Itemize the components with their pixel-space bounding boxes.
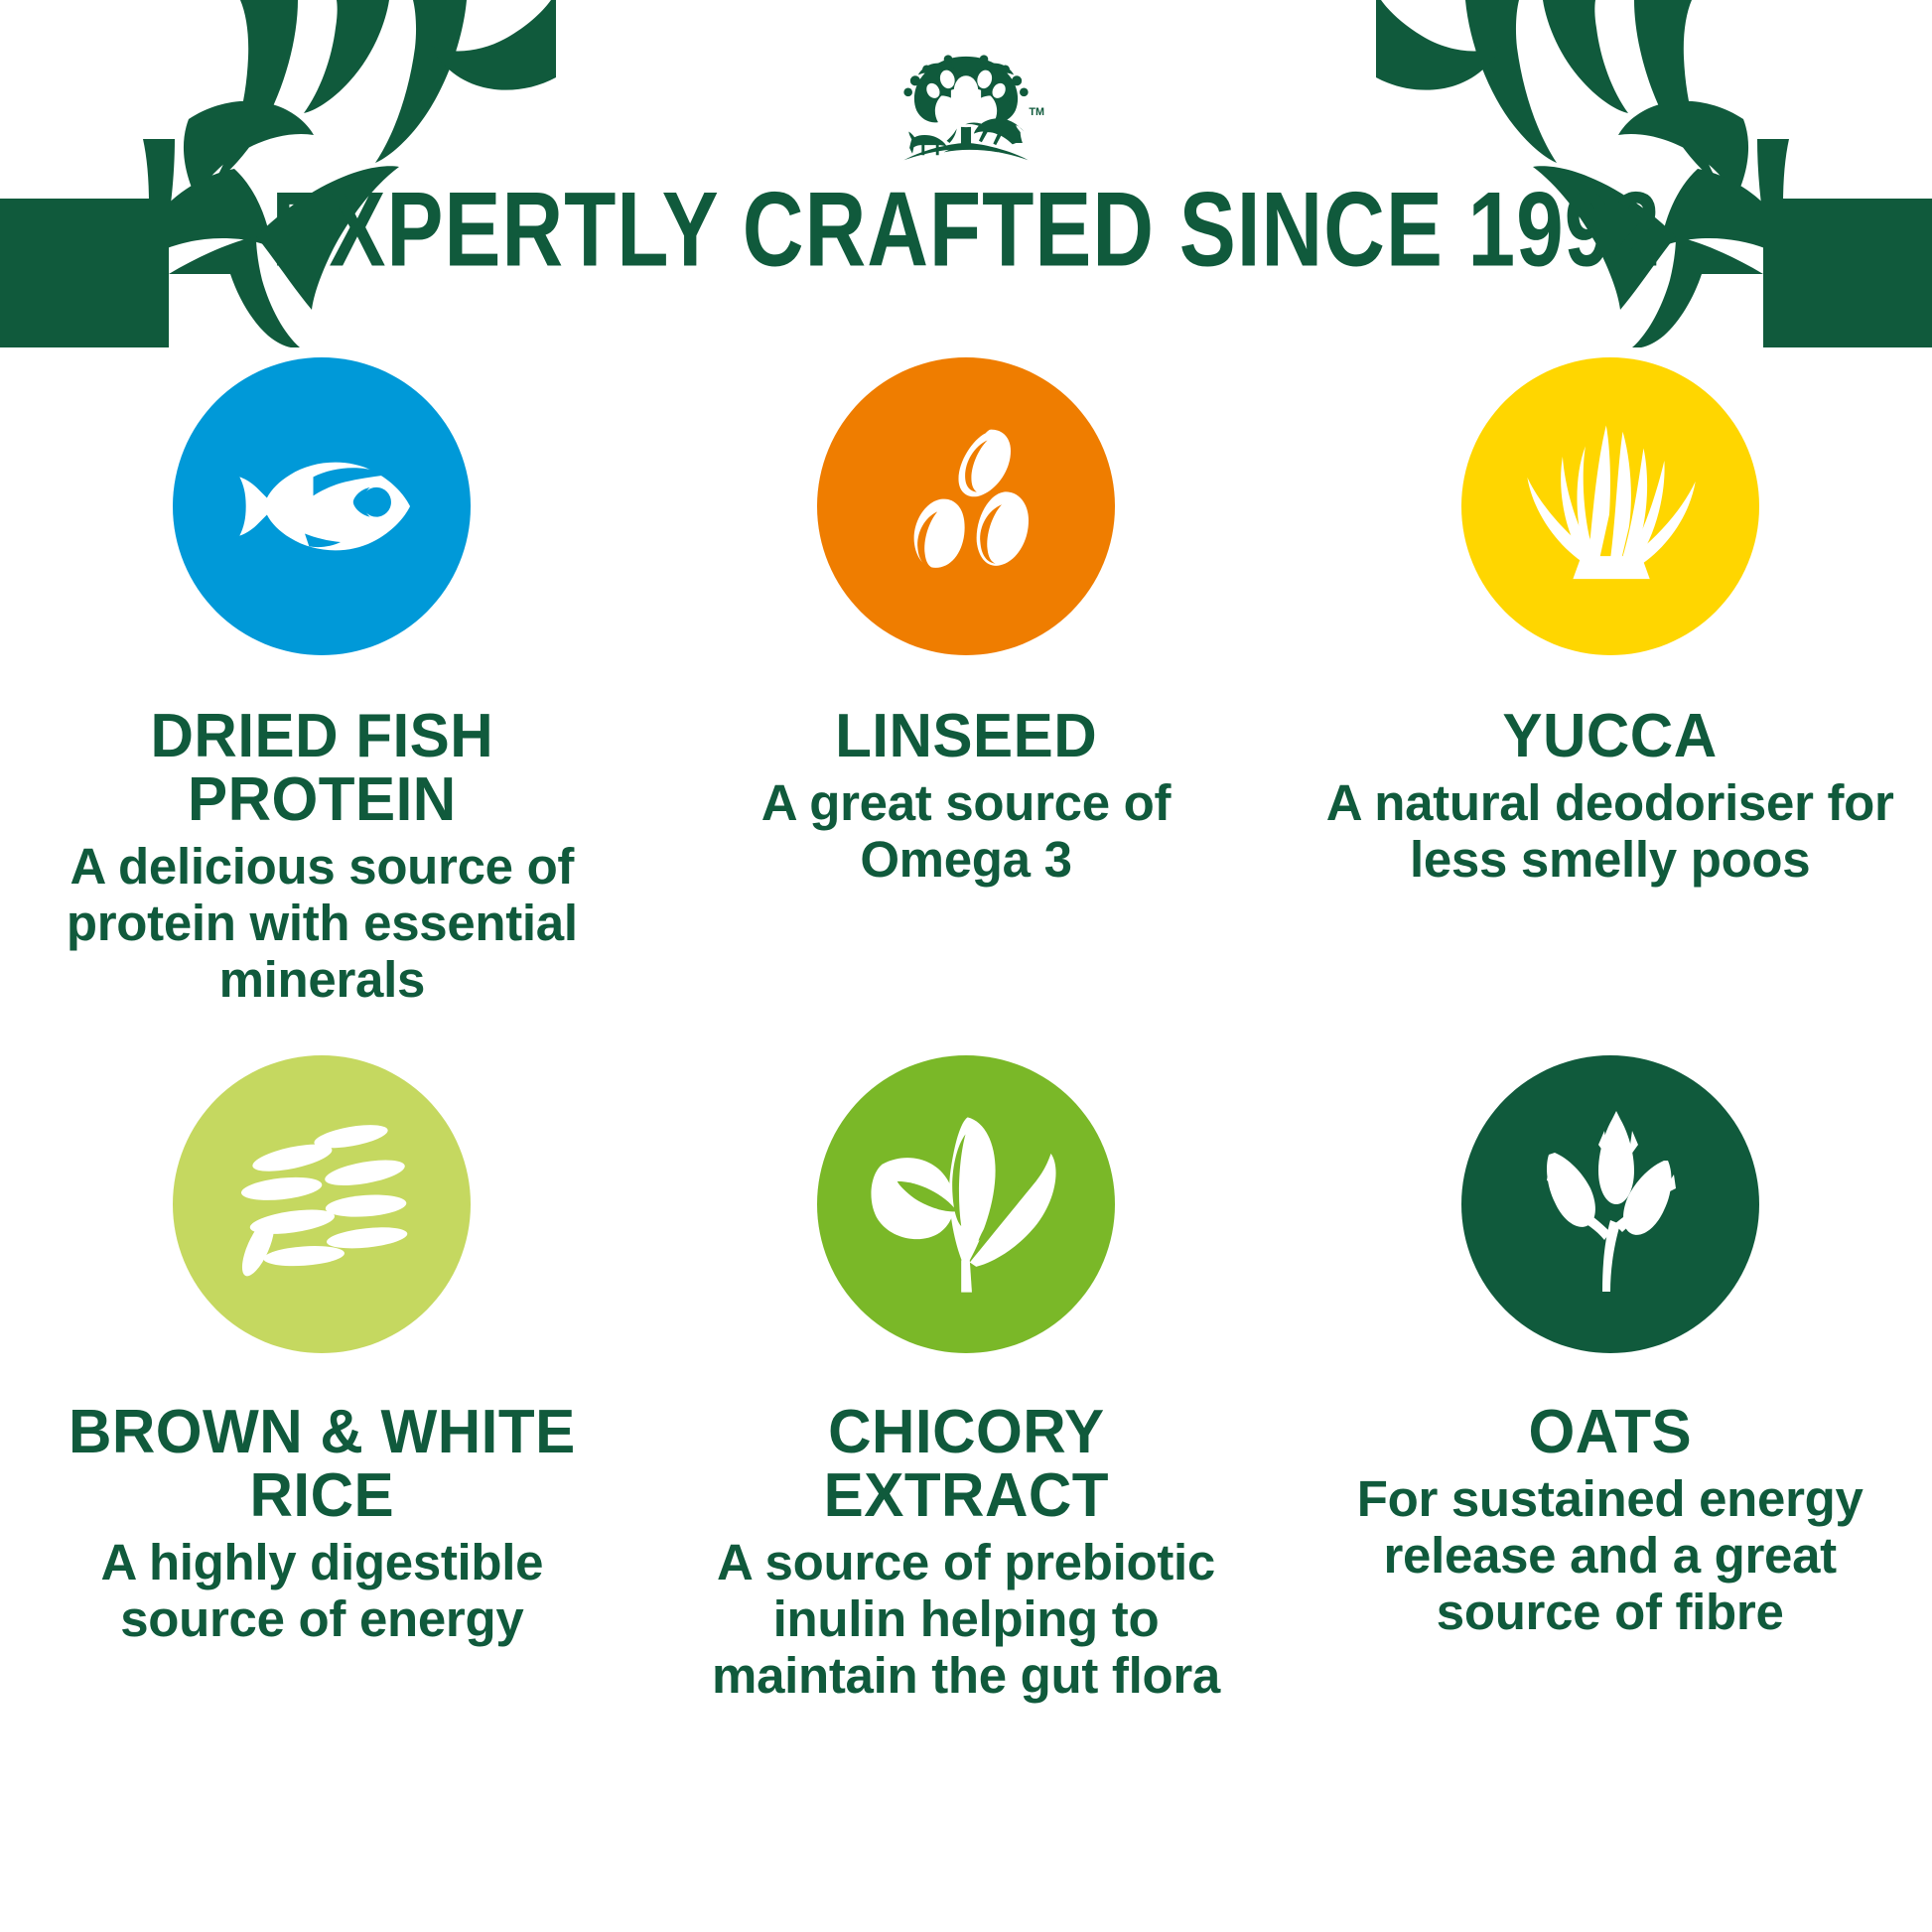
ingredient-title: LINSEED [835,705,1097,768]
rice-grains-icon-circle [173,1055,471,1353]
ingredient-card-chicory-extract: CHICORY EXTRACT A source of prebiotic in… [644,1055,1289,1704]
chicory-leaves-icon-circle [817,1055,1115,1353]
yucca-plant-icon [1496,392,1725,621]
seeds-icon [877,417,1055,596]
ingredient-description: For sustained energy release and a great… [1313,1470,1906,1640]
ingredient-title: OATS [1528,1401,1692,1464]
header-banner: TM EXPERTLY CRAFTED SINCE 1992 [0,0,1932,347]
ingredient-card-yucca: YUCCA A natural deodoriser for less smel… [1288,357,1932,1008]
ingredient-card-linseed: LINSEED A great source of Omega 3 [644,357,1289,1008]
seeds-icon-circle [817,357,1115,655]
yucca-plant-icon-circle [1461,357,1759,655]
rice-grains-icon [215,1098,429,1311]
tree-with-paw-cat-and-dog-logo: TM [877,48,1055,177]
ingredient-description: A great source of Omega 3 [670,774,1263,888]
ingredient-description: A source of prebiotic inulin helping to … [670,1534,1263,1704]
infographic-page: TM EXPERTLY CRAFTED SINCE 1992 [0,0,1932,1932]
ingredient-description: A natural deodoriser for less smelly poo… [1313,774,1906,888]
oat-sprig-icon [1511,1105,1710,1304]
ingredient-description: A delicious source of protein with essen… [26,838,619,1008]
page-title: EXPERTLY CRAFTED SINCE 1992 [68,175,1864,285]
chicory-leaves-icon [859,1098,1072,1311]
ingredient-card-dried-fish-protein: DRIED FISH PROTEIN A delicious source of… [0,357,644,1008]
trademark-symbol: TM [1029,106,1044,118]
ingredient-title: YUCCA [1503,705,1718,768]
ingredient-card-brown-and-white-rice: BROWN & WHITE RICE A highly digestible s… [0,1055,644,1704]
ingredient-description: A highly digestible source of energy [26,1534,619,1647]
ingredient-title: CHICORY EXTRACT [679,1401,1254,1528]
ingredient-title: DRIED FISH PROTEIN [35,705,610,832]
ingredient-card-oats: OATS For sustained energy release and a … [1288,1055,1932,1704]
fish-icon-circle [173,357,471,655]
ingredient-title: BROWN & WHITE RICE [35,1401,610,1528]
oat-sprig-icon-circle [1461,1055,1759,1353]
ingredient-grid: DRIED FISH PROTEIN A delicious source of… [0,357,1932,1704]
fish-icon [216,401,427,612]
